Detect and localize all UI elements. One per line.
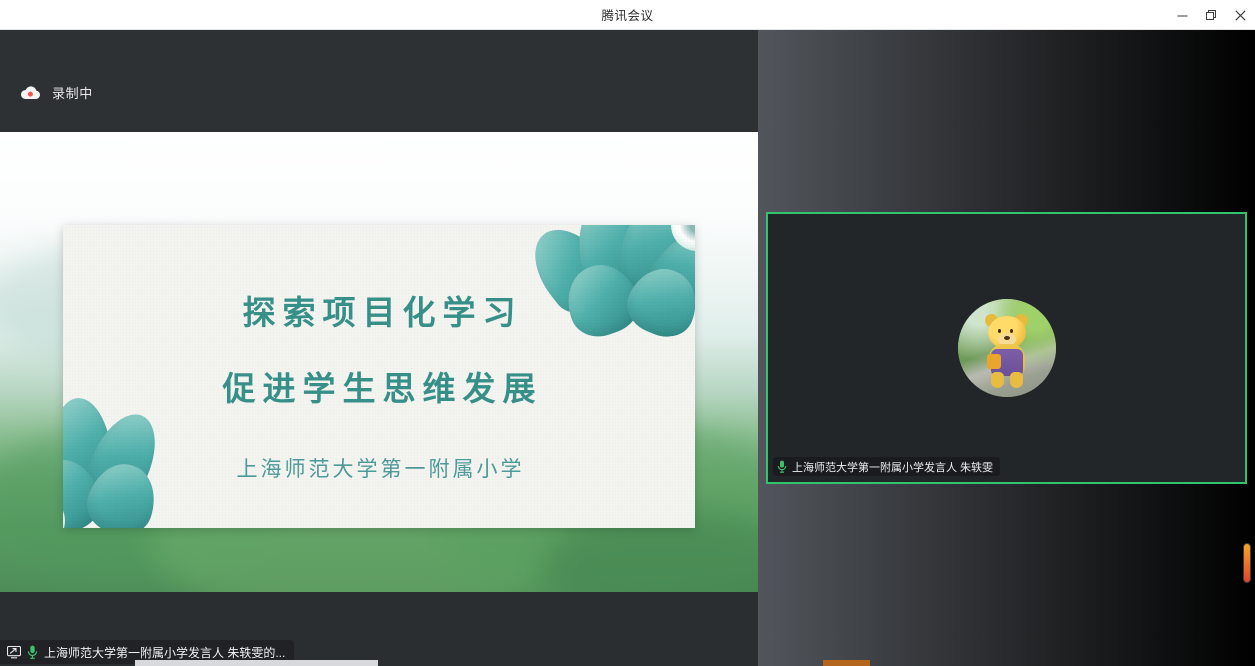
- minimize-button[interactable]: [1168, 0, 1197, 30]
- bottom-progress-strip[interactable]: [135, 660, 378, 666]
- microphone-icon: [777, 460, 787, 473]
- minimize-icon: [1177, 10, 1188, 21]
- slide-subtitle: 上海师范大学第一附属小学: [63, 453, 695, 483]
- presenter-name-label: 上海师范大学第一附属小学发言人 朱轶雯的...: [44, 644, 285, 661]
- slide-headline-1: 探索项目化学习: [63, 286, 695, 334]
- shared-screen-pane[interactable]: 录制中: [0, 30, 758, 666]
- slide-headline-2: 促进学生思维发展: [63, 362, 695, 410]
- window-controls: [1168, 0, 1255, 30]
- window-title: 腾讯会议: [0, 5, 1255, 24]
- bottom-accent-strip[interactable]: [823, 660, 870, 666]
- tencent-meeting-window: 腾讯会议: [0, 0, 1255, 666]
- participant-name-label: 上海师范大学第一附属小学发言人 朱轶雯: [792, 459, 993, 475]
- participants-pane: 上海师范大学第一附属小学发言人 朱轶雯: [758, 30, 1255, 666]
- recording-bar: 录制中: [0, 30, 758, 132]
- participant-name-badge: 上海师范大学第一附属小学发言人 朱轶雯: [773, 457, 1000, 476]
- participant-video-tile[interactable]: 上海师范大学第一附属小学发言人 朱轶雯: [766, 212, 1247, 484]
- pooh-plush-figure: [979, 316, 1035, 388]
- shared-content-stage: 探索项目化学习 促进学生思维发展 上海师范大学第一附属小学: [0, 132, 758, 592]
- microphone-icon: [27, 645, 38, 659]
- close-button[interactable]: [1226, 0, 1255, 30]
- restore-button[interactable]: [1197, 0, 1226, 30]
- presentation-slide: 探索项目化学习 促进学生思维发展 上海师范大学第一附属小学: [63, 225, 695, 528]
- screen-share-icon: [7, 646, 21, 659]
- close-icon: [1235, 10, 1246, 21]
- audio-level-fill: [1244, 544, 1250, 582]
- recording-indicator: 录制中: [20, 83, 93, 102]
- recording-label: 录制中: [52, 83, 93, 102]
- title-bar: 腾讯会议: [0, 0, 1255, 30]
- cloud-recording-icon: [20, 85, 41, 100]
- audio-level-meter[interactable]: [1243, 543, 1251, 583]
- avatar: [958, 299, 1056, 397]
- restore-icon: [1206, 10, 1217, 21]
